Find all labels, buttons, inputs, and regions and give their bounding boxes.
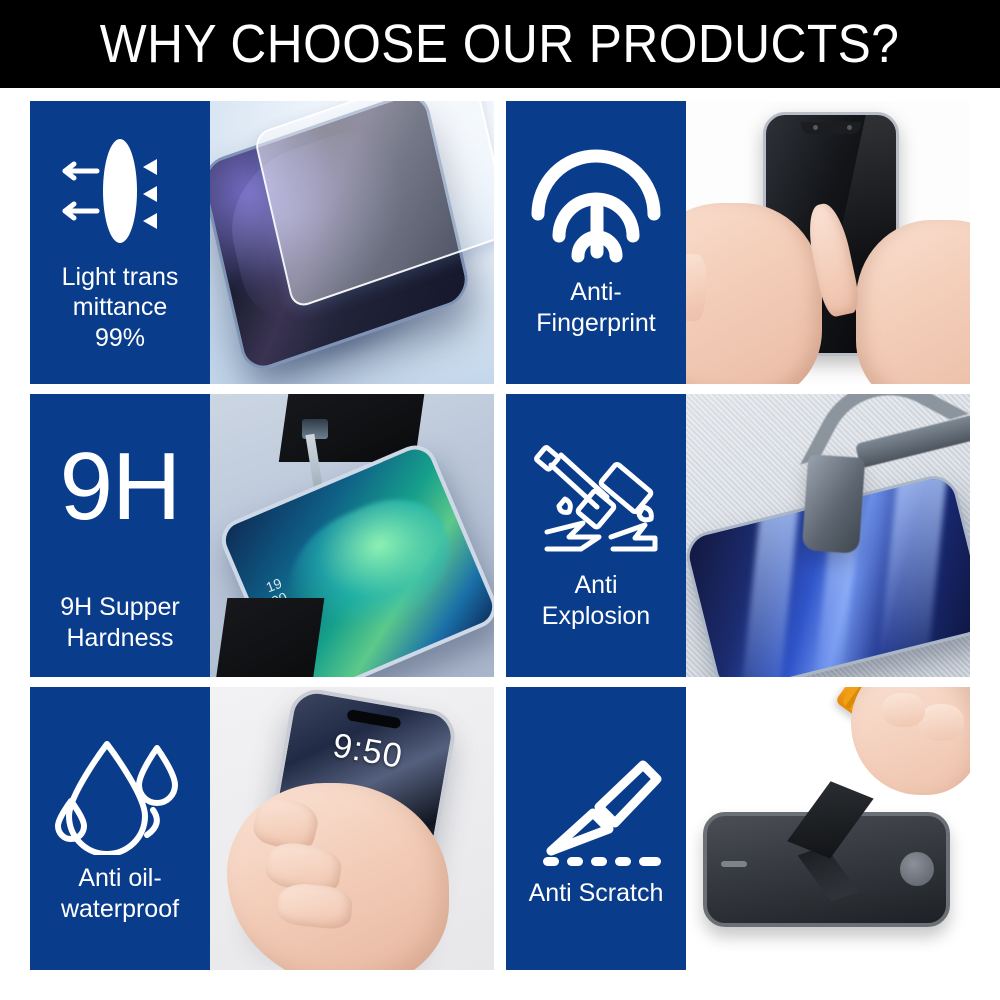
feature-photo-anti-scratch [686, 687, 970, 970]
feature-panel: Anti oil- waterproof [30, 687, 210, 970]
feature-label: 9H Supper Hardness [60, 592, 180, 653]
page-title: WHY CHOOSE OUR PRODUCTS? [100, 17, 900, 71]
feature-card-anti-explosion[interactable]: Anti Explosion [506, 394, 970, 677]
feature-panel: 9H 9H Supper Hardness [30, 394, 210, 677]
phone-screen-clock: 9:50 [330, 726, 406, 777]
feature-photo-anti-fingerprint [686, 101, 970, 384]
feature-label: Light trans mittance 99% [62, 262, 179, 354]
feature-label: Anti oil- waterproof [61, 863, 179, 924]
water-droplets-icon [36, 727, 204, 857]
feature-photo-light-transmittance [210, 101, 494, 384]
lens-light-transmittance-icon [36, 126, 204, 256]
feature-card-light-transmittance[interactable]: Light trans mittance 99% [30, 101, 494, 384]
feature-label: Anti Scratch [529, 878, 664, 909]
hammer-shatter-icon [512, 434, 680, 564]
feature-card-anti-scratch[interactable]: Anti Scratch [506, 687, 970, 970]
feature-grid: Light trans mittance 99% [30, 101, 970, 970]
feature-photo-anti-oil-waterproof: 9:50 [210, 687, 494, 970]
hardness-9h-icon: 9H [36, 412, 204, 562]
feature-photo-9h-hardness: 19 00 [210, 394, 494, 677]
feature-label: Anti- Fingerprint [536, 277, 656, 338]
feature-panel: Anti- Fingerprint [506, 101, 686, 384]
feature-card-anti-fingerprint[interactable]: Anti- Fingerprint [506, 101, 970, 384]
hardness-9h-text: 9H [60, 439, 181, 535]
feature-card-9h-hardness[interactable]: 9H 9H Supper Hardness 19 00 [30, 394, 494, 677]
fingerprint-icon [512, 141, 680, 271]
feature-label: Anti Explosion [542, 570, 650, 631]
feature-card-anti-oil-waterproof[interactable]: Anti oil- waterproof 9:50 [30, 687, 494, 970]
feature-panel: Light trans mittance 99% [30, 101, 210, 384]
infographic-page: WHY CHOOSE OUR PRODUCTS? [0, 0, 1000, 1000]
feature-panel: Anti Explosion [506, 394, 686, 677]
feature-panel: Anti Scratch [506, 687, 686, 970]
blade-scratch-icon [512, 742, 680, 872]
page-header: WHY CHOOSE OUR PRODUCTS? [0, 0, 1000, 88]
feature-photo-anti-explosion [686, 394, 970, 677]
